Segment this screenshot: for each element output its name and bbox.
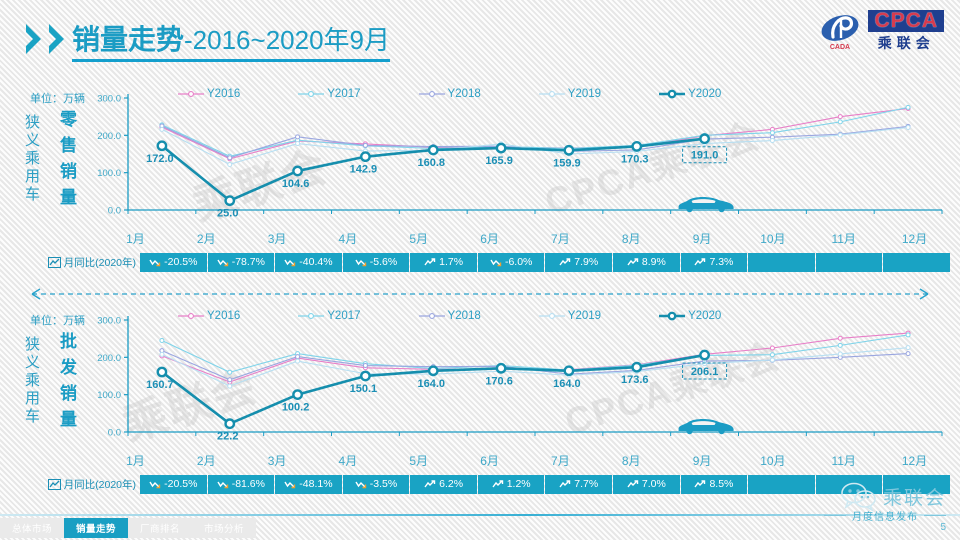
footer-tabs[interactable]: 总体市场销量走势厂商排名市场分析 bbox=[0, 518, 256, 538]
series-point-Y2019 bbox=[296, 142, 300, 146]
trend-up-icon bbox=[492, 480, 504, 489]
yoy-strip-label: 月同比(2020年) bbox=[0, 255, 140, 270]
yoy-cell bbox=[748, 475, 815, 494]
yoy-cell: 7.7% bbox=[545, 475, 612, 494]
trend-chart-icon bbox=[48, 257, 61, 268]
footer-tab-3[interactable]: 市场分析 bbox=[192, 518, 256, 538]
series-point-Y2019 bbox=[228, 162, 232, 166]
yoy-strip: 月同比(2020年) -20.5%-81.6%-48.1%-3.5%6.2%1.… bbox=[0, 474, 960, 494]
data-label-Y2020: 164.0 bbox=[417, 378, 445, 390]
x-axis-label: 5月 bbox=[383, 230, 454, 250]
yoy-cell: -81.6% bbox=[208, 475, 275, 494]
series-point-Y2020 bbox=[429, 367, 437, 375]
series-point-Y2017 bbox=[906, 333, 910, 337]
x-axis-label: 11月 bbox=[808, 452, 879, 472]
yoy-strip: 月同比(2020年) -20.5%-78.7%-40.4%-5.6%1.7%-6… bbox=[0, 252, 960, 272]
trend-chart-icon bbox=[48, 479, 61, 490]
data-label-Y2020: 173.6 bbox=[621, 374, 649, 386]
series-point-Y2017 bbox=[228, 370, 232, 374]
yoy-value: -6.0% bbox=[505, 256, 532, 268]
chart-metric-label: 零售销量 bbox=[58, 110, 75, 214]
yoy-cell: 8.9% bbox=[613, 253, 680, 272]
page-title-sub: -2016~2020年9月 bbox=[184, 20, 390, 57]
yoy-strip-label-text: 月同比(2020年) bbox=[64, 477, 136, 492]
footer-tab-0[interactable]: 总体市场 bbox=[0, 518, 64, 538]
series-point-Y2016 bbox=[838, 115, 842, 119]
series-point-Y2020 bbox=[293, 167, 301, 175]
car-wheel-front bbox=[686, 428, 692, 434]
data-label-Y2020: 25.0 bbox=[217, 208, 238, 220]
yoy-cell: 8.5% bbox=[681, 475, 748, 494]
data-label-Y2020: 165.9 bbox=[485, 155, 513, 167]
data-label-Y2020: 160.8 bbox=[417, 157, 445, 169]
x-axis-label: 7月 bbox=[525, 230, 596, 250]
yoy-cell: 7.3% bbox=[681, 253, 748, 272]
chart-wholesale: 单位：万辆 狭义乘用车 批发销量 Y2016Y2017Y2018Y2019Y20… bbox=[0, 306, 960, 496]
series-point-Y2020 bbox=[158, 368, 166, 376]
trend-up-icon bbox=[559, 480, 571, 489]
yoy-value: 8.9% bbox=[642, 256, 666, 268]
y-tick-label: 100.0 bbox=[97, 168, 121, 179]
trend-down-icon bbox=[149, 258, 161, 267]
yoy-value: 7.3% bbox=[709, 256, 733, 268]
series-point-Y2017 bbox=[838, 343, 842, 347]
x-axis-label: 2月 bbox=[171, 452, 242, 472]
yoy-cell: -40.4% bbox=[275, 253, 342, 272]
y-tick-label: 100.0 bbox=[97, 390, 121, 401]
unit-label: 单位：万辆 bbox=[30, 90, 85, 106]
series-point-Y2020 bbox=[700, 134, 708, 142]
series-point-Y2020 bbox=[633, 142, 641, 150]
y-tick-label: 200.0 bbox=[97, 353, 121, 364]
yoy-cell: 1.2% bbox=[478, 475, 545, 494]
x-axis-ticks: 1月2月3月4月5月6月7月8月9月10月11月12月 bbox=[100, 230, 950, 250]
series-point-Y2020 bbox=[565, 146, 573, 154]
axis-category-label: 狭义乘用车 bbox=[24, 336, 39, 426]
data-label-Y2020: 172.0 bbox=[146, 153, 174, 165]
x-axis-label: 2月 bbox=[171, 230, 242, 250]
series-point-Y2020 bbox=[565, 367, 573, 375]
data-label-Y2020: 22.2 bbox=[217, 431, 238, 443]
yoy-cells: -20.5%-78.7%-40.4%-5.6%1.7%-6.0%7.9%8.9%… bbox=[140, 253, 950, 272]
trend-down-icon bbox=[284, 480, 296, 489]
series-point-Y2017 bbox=[770, 353, 774, 357]
cada-text: CADA bbox=[830, 44, 850, 51]
trend-up-icon bbox=[559, 258, 571, 267]
data-label-Y2020: 142.9 bbox=[350, 164, 378, 176]
data-label-Y2020: 164.0 bbox=[553, 378, 581, 390]
yoy-value: 7.7% bbox=[574, 478, 598, 490]
x-axis-label: 6月 bbox=[454, 452, 525, 472]
x-axis-label: 9月 bbox=[667, 230, 738, 250]
series-point-Y2017 bbox=[906, 105, 910, 109]
page-number: 5 bbox=[940, 522, 946, 533]
series-point-Y2020 bbox=[700, 351, 708, 359]
y-tick-label: 200.0 bbox=[97, 131, 121, 142]
cpca-brand: CPCA bbox=[868, 10, 944, 32]
y-tick-label: 0.0 bbox=[108, 428, 121, 439]
yoy-value: 8.5% bbox=[709, 478, 733, 490]
series-point-Y2019 bbox=[838, 133, 842, 137]
yoy-cell: -3.5% bbox=[343, 475, 410, 494]
x-axis-label: 8月 bbox=[596, 452, 667, 472]
x-axis-label: 5月 bbox=[383, 452, 454, 472]
series-point-Y2018 bbox=[906, 352, 910, 356]
footer-tab-1[interactable]: 销量走势 bbox=[64, 518, 128, 538]
yoy-cell: -6.0% bbox=[478, 253, 545, 272]
x-axis-label: 4月 bbox=[312, 230, 383, 250]
series-point-Y2020 bbox=[361, 372, 369, 380]
x-axis-ticks: 1月2月3月4月5月6月7月8月9月10月11月12月 bbox=[100, 452, 950, 472]
yoy-value: -20.5% bbox=[164, 256, 197, 268]
trend-up-icon bbox=[424, 480, 436, 489]
data-label-Y2020: 150.1 bbox=[350, 383, 378, 395]
data-label-Y2020: 159.9 bbox=[553, 157, 581, 169]
data-label-Y2020: 104.6 bbox=[282, 178, 310, 190]
cada-logo-mark-icon: CADA bbox=[819, 12, 863, 52]
yoy-cell: -5.6% bbox=[343, 253, 410, 272]
y-tick-label: 0.0 bbox=[108, 206, 121, 217]
series-line-Y2018 bbox=[162, 351, 908, 380]
yoy-value: -78.7% bbox=[232, 256, 265, 268]
series-point-Y2020 bbox=[361, 152, 369, 160]
series-point-Y2017 bbox=[770, 131, 774, 135]
yoy-cell: 1.7% bbox=[410, 253, 477, 272]
x-axis-label: 12月 bbox=[879, 452, 950, 472]
trend-down-icon bbox=[217, 480, 229, 489]
trend-down-icon bbox=[490, 258, 502, 267]
wechat-subtitle: 月度信息发布 bbox=[824, 508, 946, 523]
yoy-value: -5.6% bbox=[370, 256, 397, 268]
x-axis-label: 1月 bbox=[100, 230, 171, 250]
series-point-Y2016 bbox=[770, 346, 774, 350]
double-chevron-right-icon bbox=[24, 22, 69, 56]
cpca-logo: CADA CPCA 乘联会 bbox=[819, 10, 944, 53]
yoy-cell: 7.0% bbox=[613, 475, 680, 494]
trend-up-icon bbox=[424, 258, 436, 267]
chart-plot-area: 0.0100.0200.0300.0172.025.0104.6142.9160… bbox=[100, 88, 950, 228]
yoy-value: -81.6% bbox=[232, 478, 265, 490]
trend-up-icon bbox=[627, 480, 639, 489]
series-point-Y2017 bbox=[838, 120, 842, 124]
series-point-Y2018 bbox=[228, 378, 232, 382]
yoy-cells: -20.5%-81.6%-48.1%-3.5%6.2%1.2%7.7%7.0%8… bbox=[140, 475, 950, 494]
yoy-cell: -20.5% bbox=[140, 475, 207, 494]
series-point-Y2020 bbox=[497, 144, 505, 152]
x-axis-label: 10月 bbox=[737, 230, 808, 250]
chart-metric-label: 批发销量 bbox=[58, 332, 75, 436]
trend-down-icon bbox=[355, 480, 367, 489]
chart-plot-area: 0.0100.0200.0300.0160.722.2100.2150.1164… bbox=[100, 310, 950, 450]
series-point-Y2016 bbox=[838, 336, 842, 340]
x-axis-label: 1月 bbox=[100, 452, 171, 472]
yoy-cell: -48.1% bbox=[275, 475, 342, 494]
series-point-Y2018 bbox=[296, 355, 300, 359]
footer-divider bbox=[0, 514, 960, 516]
trend-up-icon bbox=[694, 480, 706, 489]
trend-down-icon bbox=[355, 258, 367, 267]
x-axis-label: 3月 bbox=[242, 230, 313, 250]
series-point-Y2020 bbox=[429, 146, 437, 154]
section-divider-arrow bbox=[22, 288, 938, 300]
series-line-Y2018 bbox=[162, 126, 908, 158]
data-label-Y2020: 170.3 bbox=[621, 153, 649, 165]
cpca-brand-cn: 乘联会 bbox=[878, 33, 935, 53]
trend-down-icon bbox=[284, 258, 296, 267]
x-axis-label: 12月 bbox=[879, 230, 950, 250]
page-title-main: 销量走势 bbox=[72, 18, 184, 58]
series-point-Y2020 bbox=[226, 420, 234, 428]
yoy-value: 7.0% bbox=[642, 478, 666, 490]
yoy-value: 1.2% bbox=[507, 478, 531, 490]
y-tick-label: 300.0 bbox=[97, 316, 121, 327]
yoy-cell: -20.5% bbox=[140, 253, 207, 272]
series-point-Y2019 bbox=[906, 346, 910, 350]
data-label-Y2020: 160.7 bbox=[146, 379, 174, 391]
series-point-Y2020 bbox=[158, 142, 166, 150]
series-point-Y2019 bbox=[906, 125, 910, 129]
series-point-Y2018 bbox=[363, 364, 367, 368]
divider-line-left bbox=[824, 515, 846, 516]
series-point-Y2020 bbox=[633, 363, 641, 371]
yoy-value: 1.7% bbox=[439, 256, 463, 268]
data-label-Y2020: 100.2 bbox=[282, 402, 310, 414]
series-point-Y2020 bbox=[226, 196, 234, 204]
series-point-Y2019 bbox=[160, 352, 164, 356]
chart-retail: 单位：万辆 狭义乘用车 零售销量 Y2016Y2017Y2018Y2019Y20… bbox=[0, 84, 960, 274]
latest-value-callout-text: 206.1 bbox=[691, 366, 719, 378]
car-wheel-front bbox=[686, 206, 692, 212]
x-axis-label: 7月 bbox=[525, 452, 596, 472]
yoy-cell: 7.9% bbox=[545, 253, 612, 272]
yoy-value: 6.2% bbox=[439, 478, 463, 490]
series-point-Y2019 bbox=[838, 352, 842, 356]
wechat-brand: 乘联会 bbox=[841, 482, 946, 510]
yoy-strip-label: 月同比(2020年) bbox=[0, 477, 140, 492]
series-point-Y2017 bbox=[160, 339, 164, 343]
unit-label: 单位：万辆 bbox=[30, 312, 85, 328]
yoy-cell bbox=[816, 253, 883, 272]
wechat-subtitle-text: 月度信息发布 bbox=[852, 508, 918, 523]
divider-line-right bbox=[924, 515, 946, 516]
yoy-strip-label-text: 月同比(2020年) bbox=[64, 255, 136, 270]
cpca-logo-text: CPCA 乘联会 bbox=[868, 10, 944, 53]
trend-up-icon bbox=[627, 258, 639, 267]
x-axis-label: 9月 bbox=[667, 452, 738, 472]
series-point-Y2019 bbox=[770, 139, 774, 143]
yoy-value: -3.5% bbox=[370, 478, 397, 490]
series-point-Y2018 bbox=[296, 135, 300, 139]
yoy-cell: -78.7% bbox=[208, 253, 275, 272]
x-axis-label: 4月 bbox=[312, 452, 383, 472]
yoy-cell bbox=[883, 253, 950, 272]
car-wheel-rear bbox=[718, 428, 724, 434]
series-point-Y2020 bbox=[293, 390, 301, 398]
yoy-value: -40.4% bbox=[299, 256, 332, 268]
yoy-cell: 6.2% bbox=[410, 475, 477, 494]
series-point-Y2019 bbox=[296, 359, 300, 363]
yoy-value: -48.1% bbox=[299, 478, 332, 490]
trend-down-icon bbox=[149, 480, 161, 489]
slide-header: 销量走势-2016~2020年9月 CADA CPCA 乘联会 bbox=[0, 0, 960, 68]
series-point-Y2018 bbox=[228, 156, 232, 160]
trend-down-icon bbox=[217, 258, 229, 267]
data-label-Y2020: 170.6 bbox=[485, 375, 513, 387]
series-point-Y2020 bbox=[497, 364, 505, 372]
latest-value-callout-text: 191.0 bbox=[691, 150, 719, 162]
series-point-Y2018 bbox=[363, 143, 367, 147]
series-point-Y2019 bbox=[160, 127, 164, 131]
x-axis-label: 6月 bbox=[454, 230, 525, 250]
yoy-cell bbox=[748, 253, 815, 272]
axis-category-label: 狭义乘用车 bbox=[24, 114, 39, 204]
x-axis-label: 10月 bbox=[737, 452, 808, 472]
series-point-Y2019 bbox=[770, 358, 774, 362]
yoy-value: -20.5% bbox=[164, 478, 197, 490]
x-axis-label: 3月 bbox=[242, 452, 313, 472]
wechat-icon bbox=[841, 482, 877, 510]
footer-tab-2[interactable]: 厂商排名 bbox=[128, 518, 192, 538]
y-tick-label: 300.0 bbox=[97, 94, 121, 105]
page-title: 销量走势-2016~2020年9月 bbox=[72, 18, 390, 62]
x-axis-label: 8月 bbox=[596, 230, 667, 250]
car-wheel-rear bbox=[718, 206, 724, 212]
wechat-name: 乘联会 bbox=[883, 483, 946, 510]
yoy-value: 7.9% bbox=[574, 256, 598, 268]
series-point-Y2019 bbox=[228, 384, 232, 388]
x-axis-label: 11月 bbox=[808, 230, 879, 250]
trend-up-icon bbox=[694, 258, 706, 267]
